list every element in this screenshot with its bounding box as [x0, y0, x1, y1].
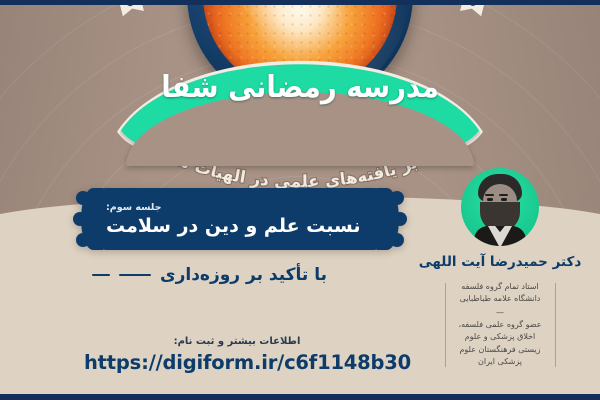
- registration-label: اطلاعات بیشتر و ثبت نام:: [84, 336, 390, 347]
- credential-line: زیستی فرهنگستان علوم: [459, 344, 542, 356]
- session-emphasis-text: با تأکید بر روزه‌داری: [160, 265, 327, 285]
- portrait-brow-left: [485, 194, 494, 196]
- portrait-eye-right: [501, 198, 507, 201]
- session-box-content: جلسه سوم: نسبت علم و دین در سلامت: [92, 188, 388, 250]
- session-title: نسبت علم و دین در سلامت: [106, 215, 361, 237]
- speaker-block: دکتر حمیدرضا آیت اللهی استاد تمام گروه ف…: [404, 168, 596, 371]
- emphasis-dash-short: [92, 274, 110, 276]
- emphasis-dash-long: [119, 274, 151, 276]
- ribbon-text-wrap: مدرسه رمضانی شفا: [118, 58, 482, 162]
- credential-separator: —: [459, 307, 542, 318]
- registration-block: اطلاعات بیشتر و ثبت نام: https://digifor…: [84, 336, 390, 374]
- credential-line: دانشگاه علامه طباطبایی: [459, 293, 542, 305]
- calligraphy-ribbon-icon: مدرسه رمضانی شفا: [118, 58, 482, 162]
- portrait-face: [472, 174, 528, 246]
- credential-line: استاد تمام گروه فلسفه: [459, 281, 542, 293]
- frame-top-strip: [0, 0, 600, 5]
- speaker-portrait-icon: [461, 168, 539, 246]
- portrait-brow-right: [499, 194, 508, 196]
- poster-canvas: گذری بر یافته‌های علمی در الهیات سلامت م…: [0, 0, 600, 400]
- speaker-credentials: استاد تمام گروه فلسفه دانشگاه علامه طباط…: [445, 279, 556, 371]
- frame-bottom-strip: [0, 394, 600, 400]
- portrait-eye-left: [487, 198, 493, 201]
- credential-line: عضو گروه علمی فلسفه،: [459, 319, 542, 331]
- credential-line: اخلاق پزشکی و علوم: [459, 331, 542, 343]
- speaker-name: دکتر حمیدرضا آیت اللهی: [404, 254, 596, 270]
- session-kicker: جلسه سوم:: [106, 202, 162, 213]
- program-title-calligraphy: مدرسه رمضانی شفا: [161, 70, 439, 105]
- registration-url-link[interactable]: https://digiform.ir/c6f1148b30: [84, 351, 390, 374]
- session-box: جلسه سوم: نسبت علم و دین در سلامت: [92, 188, 388, 250]
- session-emphasis-row: با تأکید بر روزه‌داری: [92, 262, 388, 288]
- credential-line: پزشکی ایران: [459, 356, 542, 368]
